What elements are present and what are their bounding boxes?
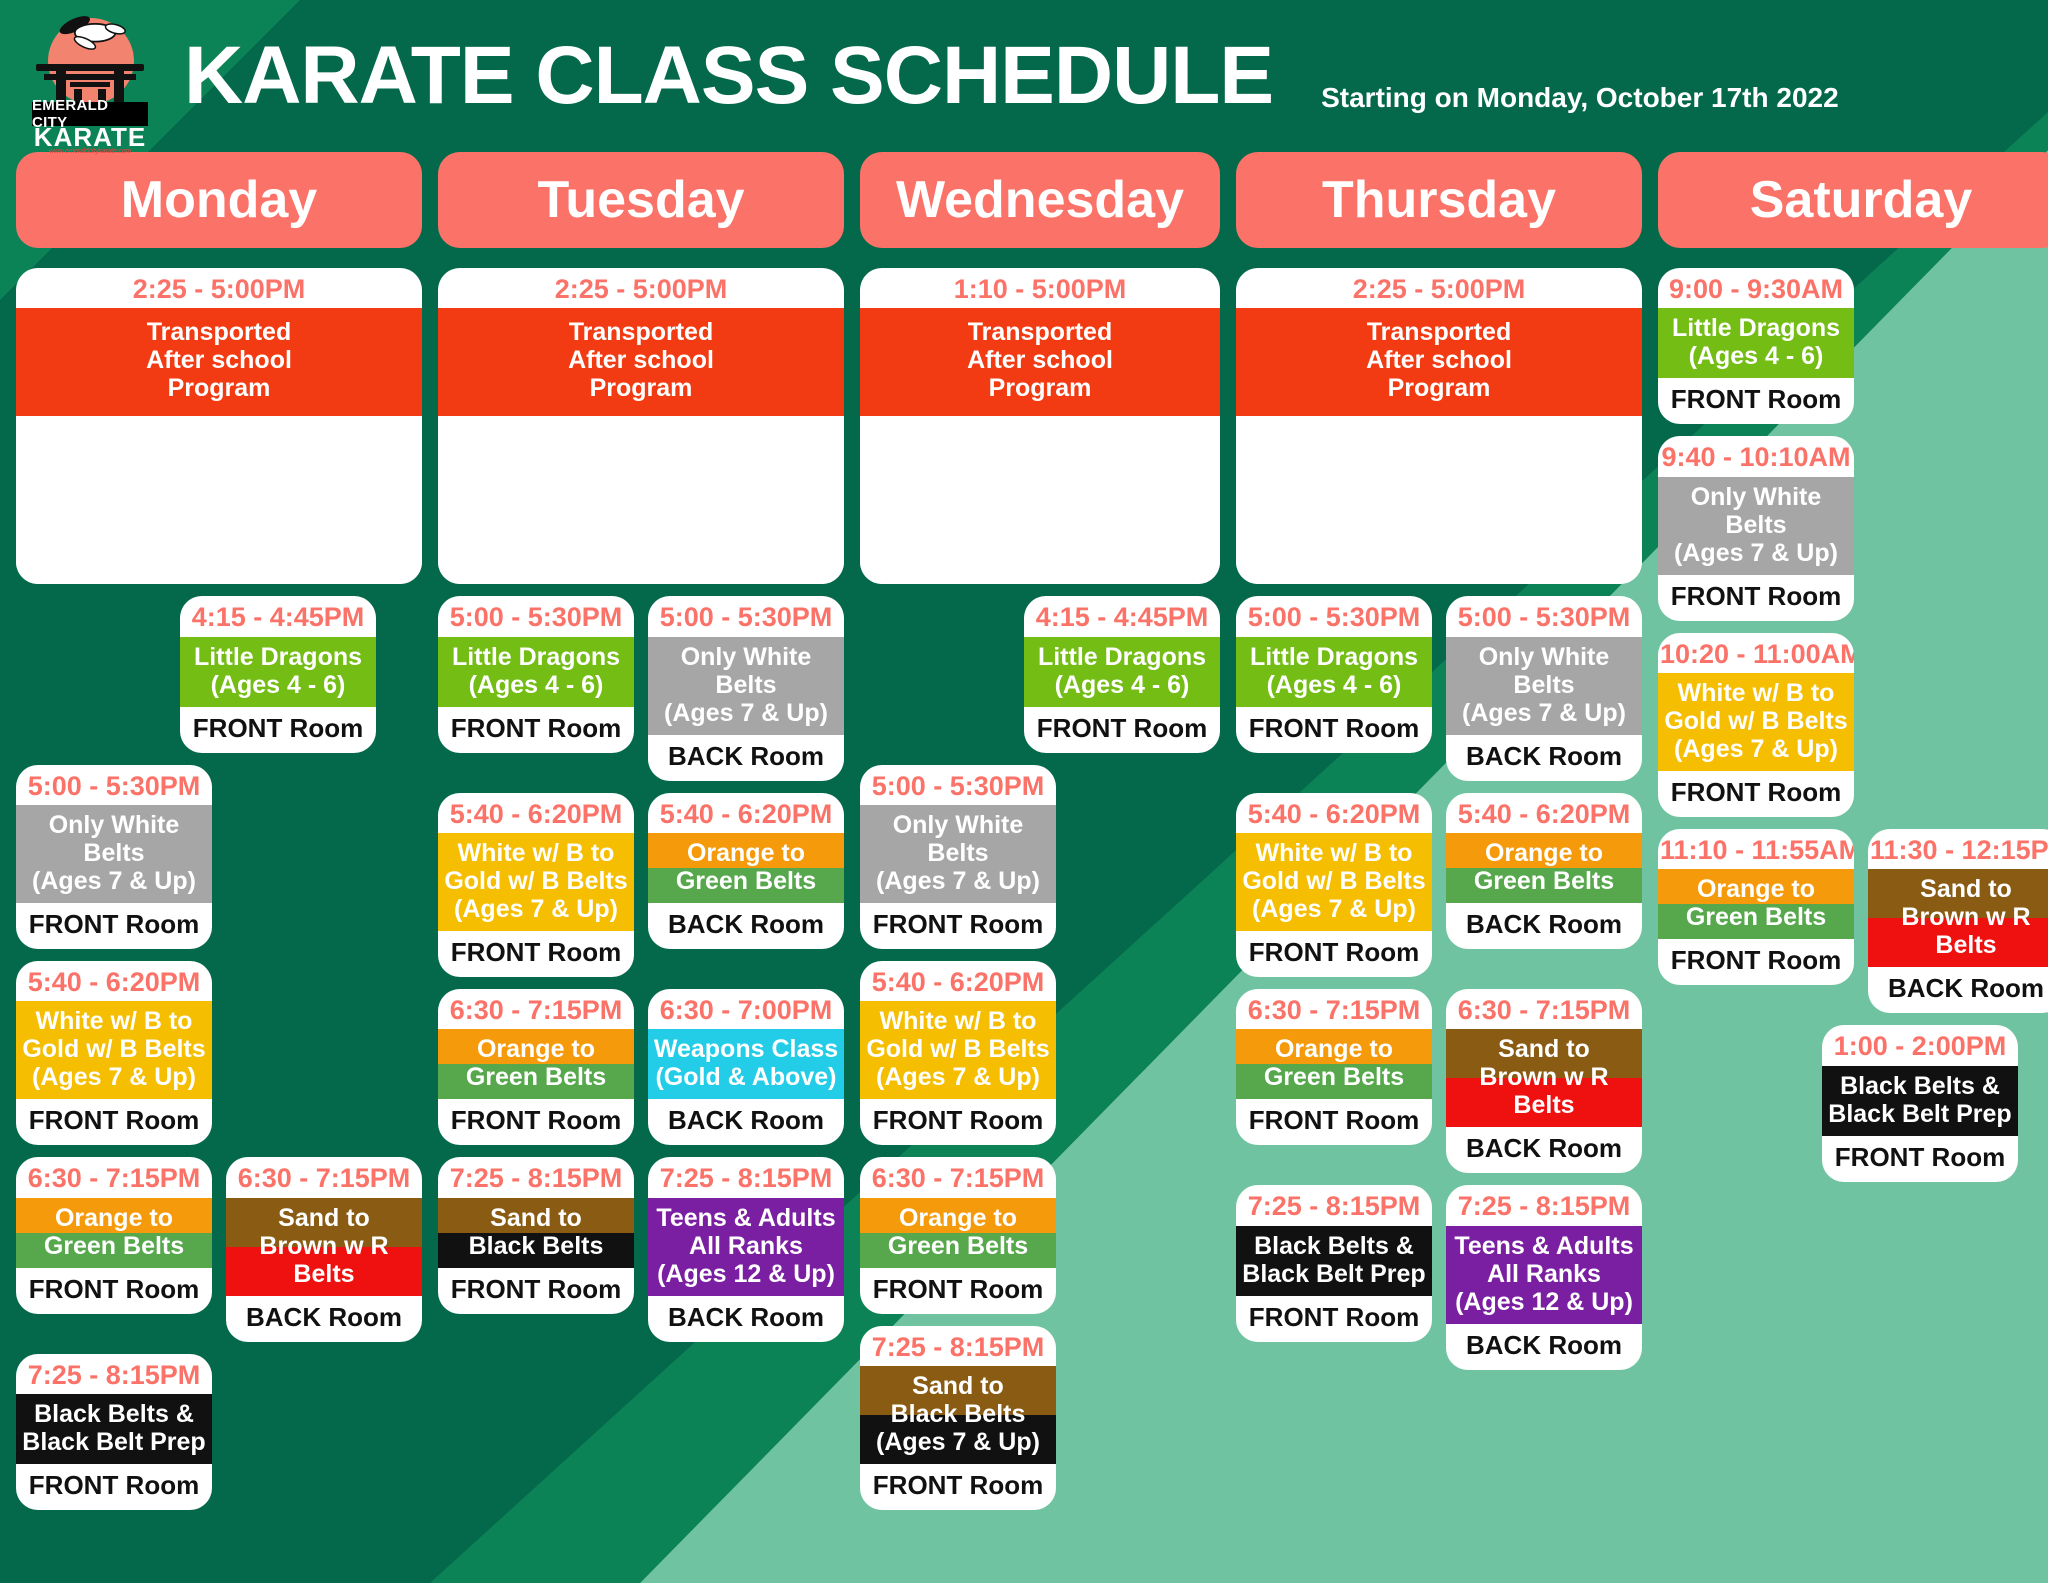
- schedule-row: 7:25 - 8:15PMBlack Belts &Black Belt Pre…: [1236, 1185, 1642, 1369]
- class-card-filler: [16, 416, 422, 584]
- class-room: FRONT Room: [1658, 378, 1854, 424]
- class-time: 6:30 - 7:15PM: [1236, 989, 1432, 1029]
- class-band: White w/ B toGold w/ B Belts(Ages 7 & Up…: [860, 1001, 1056, 1099]
- class-title: Only White Belts(Ages 7 & Up): [1658, 477, 1854, 575]
- class-room: FRONT Room: [1822, 1136, 2018, 1182]
- class-room: FRONT Room: [860, 1464, 1056, 1510]
- class-band: TransportedAfter schoolProgram: [860, 308, 1220, 416]
- class-band: TransportedAfter schoolProgram: [16, 308, 422, 416]
- class-card[interactable]: 9:00 - 9:30AMLittle Dragons(Ages 4 - 6)F…: [1658, 268, 1854, 424]
- schedule-row: 5:00 - 5:30PMLittle Dragons(Ages 4 - 6)F…: [1236, 596, 1642, 780]
- schedule-row: 7:25 - 8:15PMBlack Belts &Black Belt Pre…: [16, 1354, 422, 1510]
- class-title: White w/ B toGold w/ B Belts(Ages 7 & Up…: [16, 1001, 212, 1099]
- class-card[interactable]: 2:25 - 5:00PMTransportedAfter schoolProg…: [16, 268, 422, 584]
- class-title: TransportedAfter schoolProgram: [1236, 308, 1642, 416]
- class-band: Sand toBrown w R Belts: [1868, 869, 2048, 967]
- class-room: FRONT Room: [1236, 1099, 1432, 1145]
- day-column-monday: Monday2:25 - 5:00PMTransportedAfter scho…: [8, 152, 430, 1583]
- schedule-row: 4:15 - 4:45PMLittle Dragons(Ages 4 - 6)F…: [860, 596, 1220, 752]
- class-room: BACK Room: [1446, 735, 1642, 781]
- class-band: Only White Belts(Ages 7 & Up): [16, 805, 212, 903]
- class-room: FRONT Room: [438, 707, 634, 753]
- class-card[interactable]: 11:30 - 12:15PMSand toBrown w R BeltsBAC…: [1868, 829, 2048, 1013]
- class-card-filler: [438, 416, 844, 584]
- class-title: Orange toGreen Belts: [1446, 833, 1642, 903]
- class-title: Only White Belts(Ages 7 & Up): [860, 805, 1056, 903]
- class-card[interactable]: 6:30 - 7:15PMOrange toGreen BeltsFRONT R…: [16, 1157, 212, 1313]
- class-title: Only White Belts(Ages 7 & Up): [648, 637, 844, 735]
- class-band: Orange toGreen Belts: [648, 833, 844, 903]
- schedule-row: 2:25 - 5:00PMTransportedAfter schoolProg…: [16, 268, 422, 584]
- day-header-thursday[interactable]: Thursday: [1236, 152, 1642, 248]
- class-time: 5:40 - 6:20PM: [16, 961, 212, 1001]
- class-card[interactable]: 10:20 - 11:00AMWhite w/ B toGold w/ B Be…: [1658, 633, 1854, 817]
- class-room: FRONT Room: [180, 707, 376, 753]
- class-time: 10:20 - 11:00AM: [1658, 633, 1854, 673]
- class-time: 6:30 - 7:00PM: [648, 989, 844, 1029]
- class-room: BACK Room: [648, 1296, 844, 1342]
- schedule-row: 5:40 - 6:20PMWhite w/ B toGold w/ B Belt…: [860, 961, 1220, 1145]
- class-band: Little Dragons(Ages 4 - 6): [180, 637, 376, 707]
- class-title: Sand toBlack Belts(Ages 7 & Up): [860, 1366, 1056, 1464]
- class-title: Only White Belts(Ages 7 & Up): [16, 805, 212, 903]
- class-card[interactable]: 5:00 - 5:30PMOnly White Belts(Ages 7 & U…: [1446, 596, 1642, 780]
- day-header-tuesday[interactable]: Tuesday: [438, 152, 844, 248]
- class-title: Sand toBrown w R Belts: [1446, 1029, 1642, 1127]
- class-title: Black Belts &Black Belt Prep: [1236, 1226, 1432, 1296]
- class-time: 6:30 - 7:15PM: [860, 1157, 1056, 1197]
- class-band: TransportedAfter schoolProgram: [1236, 308, 1642, 416]
- class-time: 5:40 - 6:20PM: [438, 793, 634, 833]
- day-card-list: 2:25 - 5:00PMTransportedAfter schoolProg…: [438, 268, 844, 1342]
- class-title: Teens & AdultsAll Ranks(Ages 12 & Up): [648, 1198, 844, 1296]
- class-room: FRONT Room: [860, 1268, 1056, 1314]
- class-card[interactable]: 5:00 - 5:30PMOnly White Belts(Ages 7 & U…: [860, 765, 1056, 949]
- class-card[interactable]: 5:40 - 6:20PMOrange toGreen BeltsBACK Ro…: [1446, 793, 1642, 949]
- class-card[interactable]: 7:25 - 8:15PMBlack Belts &Black Belt Pre…: [16, 1354, 212, 1510]
- class-card-filler: [1236, 416, 1642, 584]
- schedule-grid: Monday2:25 - 5:00PMTransportedAfter scho…: [0, 152, 2048, 1583]
- schedule-row: 5:00 - 5:30PMLittle Dragons(Ages 4 - 6)F…: [438, 596, 844, 780]
- class-title: Teens & AdultsAll Ranks(Ages 12 & Up): [1446, 1226, 1642, 1324]
- class-card[interactable]: 6:30 - 7:15PMSand toBrown w R BeltsBACK …: [226, 1157, 422, 1341]
- class-room: FRONT Room: [860, 1099, 1056, 1145]
- schedule-row: 2:25 - 5:00PMTransportedAfter schoolProg…: [438, 268, 844, 584]
- schedule-row: 5:40 - 6:20PMWhite w/ B toGold w/ B Belt…: [16, 961, 422, 1145]
- class-title: Little Dragons(Ages 4 - 6): [438, 637, 634, 707]
- class-band: White w/ B toGold w/ B Belts(Ages 7 & Up…: [1236, 833, 1432, 931]
- class-room: FRONT Room: [860, 903, 1056, 949]
- schedule-row: 5:00 - 5:30PMOnly White Belts(Ages 7 & U…: [860, 765, 1220, 949]
- class-time: 7:25 - 8:15PM: [1446, 1185, 1642, 1225]
- class-room: FRONT Room: [1236, 1296, 1432, 1342]
- class-card[interactable]: 2:25 - 5:00PMTransportedAfter schoolProg…: [438, 268, 844, 584]
- class-time: 6:30 - 7:15PM: [438, 989, 634, 1029]
- class-time: 5:40 - 6:20PM: [860, 961, 1056, 1001]
- class-time: 4:15 - 4:45PM: [180, 596, 376, 636]
- class-room: BACK Room: [648, 903, 844, 949]
- class-band: Orange toGreen Belts: [438, 1029, 634, 1099]
- class-room: FRONT Room: [16, 1464, 212, 1510]
- class-room: FRONT Room: [1658, 575, 1854, 621]
- schedule-row: 6:30 - 7:15PMOrange toGreen BeltsFRONT R…: [860, 1157, 1220, 1313]
- class-room: BACK Room: [226, 1296, 422, 1342]
- schedule-row: 4:15 - 4:45PMLittle Dragons(Ages 4 - 6)F…: [16, 596, 422, 752]
- schedule-row: 6:30 - 7:15PMOrange toGreen BeltsFRONT R…: [438, 989, 844, 1145]
- class-time: 11:10 - 11:55AM: [1658, 829, 1854, 869]
- class-card[interactable]: 7:25 - 8:15PMTeens & AdultsAll Ranks(Age…: [1446, 1185, 1642, 1369]
- class-time: 2:25 - 5:00PM: [438, 268, 844, 308]
- day-header-monday[interactable]: Monday: [16, 152, 422, 248]
- class-card[interactable]: 5:00 - 5:30PMLittle Dragons(Ages 4 - 6)F…: [438, 596, 634, 752]
- class-room: FRONT Room: [16, 1099, 212, 1145]
- class-time: 2:25 - 5:00PM: [16, 268, 422, 308]
- day-card-list: 2:25 - 5:00PMTransportedAfter schoolProg…: [1236, 268, 1642, 1370]
- class-band: Little Dragons(Ages 4 - 6): [1024, 637, 1220, 707]
- class-room: BACK Room: [1868, 967, 2048, 1013]
- class-card[interactable]: 7:25 - 8:15PMBlack Belts &Black Belt Pre…: [1236, 1185, 1432, 1341]
- schedule-row: 5:00 - 5:30PMOnly White Belts(Ages 7 & U…: [16, 765, 422, 949]
- class-time: 5:40 - 6:20PM: [1446, 793, 1642, 833]
- class-card[interactable]: 6:30 - 7:15PMSand toBrown w R BeltsBACK …: [1446, 989, 1642, 1173]
- brand-logo: EMERALD CITY KARATE www.emeraldcitykarat…: [26, 10, 154, 142]
- class-band: White w/ B toGold w/ B Belts(Ages 7 & Up…: [438, 833, 634, 931]
- class-band: Black Belts &Black Belt Prep: [1822, 1066, 2018, 1136]
- class-card[interactable]: 1:00 - 2:00PMBlack Belts &Black Belt Pre…: [1822, 1025, 2018, 1181]
- class-title: Orange toGreen Belts: [1236, 1029, 1432, 1099]
- class-title: Little Dragons(Ages 4 - 6): [1658, 308, 1854, 378]
- class-band: White w/ B toGold w/ B Belts(Ages 7 & Up…: [1658, 673, 1854, 771]
- class-card[interactable]: 11:10 - 11:55AMOrange toGreen BeltsFRONT…: [1658, 829, 1854, 985]
- class-title: Little Dragons(Ages 4 - 6): [1024, 637, 1220, 707]
- class-room: FRONT Room: [438, 931, 634, 977]
- class-band: Only White Belts(Ages 7 & Up): [1658, 477, 1854, 575]
- class-time: 7:25 - 8:15PM: [16, 1354, 212, 1394]
- page-subtitle: Starting on Monday, October 17th 2022: [1321, 82, 1839, 114]
- class-title: Black Belts &Black Belt Prep: [1822, 1066, 2018, 1136]
- day-card-list: 2:25 - 5:00PMTransportedAfter schoolProg…: [16, 268, 422, 1510]
- class-time: 6:30 - 7:15PM: [16, 1157, 212, 1197]
- class-room: BACK Room: [648, 735, 844, 781]
- class-time: 5:40 - 6:20PM: [1236, 793, 1432, 833]
- logo-website-url: www.emeraldcitykarate.com: [32, 148, 148, 155]
- class-card[interactable]: 5:00 - 5:30PMOnly White Belts(Ages 7 & U…: [16, 765, 212, 949]
- class-band: Orange toGreen Belts: [1446, 833, 1642, 903]
- class-title: Orange toGreen Belts: [648, 833, 844, 903]
- class-title: TransportedAfter schoolProgram: [438, 308, 844, 416]
- schedule-row: 5:40 - 6:20PMWhite w/ B toGold w/ B Belt…: [1236, 793, 1642, 977]
- class-band: Teens & AdultsAll Ranks(Ages 12 & Up): [648, 1198, 844, 1296]
- schedule-row: 5:40 - 6:20PMWhite w/ B toGold w/ B Belt…: [438, 793, 844, 977]
- class-band: Sand toBrown w R Belts: [226, 1198, 422, 1296]
- class-title: White w/ B toGold w/ B Belts(Ages 7 & Up…: [1658, 673, 1854, 771]
- schedule-row: 1:00 - 2:00PMBlack Belts &Black Belt Pre…: [1658, 1025, 2048, 1181]
- class-title: Weapons Class(Gold & Above): [648, 1029, 844, 1099]
- class-band: Only White Belts(Ages 7 & Up): [860, 805, 1056, 903]
- schedule-row: 11:10 - 11:55AMOrange toGreen BeltsFRONT…: [1658, 829, 2048, 1013]
- class-card[interactable]: 5:40 - 6:20PMWhite w/ B toGold w/ B Belt…: [16, 961, 212, 1145]
- class-card[interactable]: 4:15 - 4:45PMLittle Dragons(Ages 4 - 6)F…: [1024, 596, 1220, 752]
- class-time: 7:25 - 8:15PM: [860, 1326, 1056, 1366]
- schedule-row: 9:40 - 10:10AMOnly White Belts(Ages 7 & …: [1658, 436, 2048, 620]
- class-band: Black Belts &Black Belt Prep: [16, 1394, 212, 1464]
- day-header-saturday[interactable]: Saturday: [1658, 152, 2048, 248]
- class-room: FRONT Room: [438, 1099, 634, 1145]
- class-time: 5:00 - 5:30PM: [1236, 596, 1432, 636]
- class-time: 7:25 - 8:15PM: [648, 1157, 844, 1197]
- class-band: Little Dragons(Ages 4 - 6): [438, 637, 634, 707]
- class-band: Little Dragons(Ages 4 - 6): [1236, 637, 1432, 707]
- class-time: 5:00 - 5:30PM: [16, 765, 212, 805]
- class-band: Orange toGreen Belts: [1236, 1029, 1432, 1099]
- class-title: Little Dragons(Ages 4 - 6): [180, 637, 376, 707]
- class-band: Only White Belts(Ages 7 & Up): [1446, 637, 1642, 735]
- karate-fighter-icon: [52, 14, 128, 54]
- class-time: 11:30 - 12:15PM: [1868, 829, 2048, 869]
- day-header-wednesday[interactable]: Wednesday: [860, 152, 1220, 248]
- page-header: EMERALD CITY KARATE www.emeraldcitykarat…: [0, 0, 2048, 152]
- schedule-row: 6:30 - 7:15PMOrange toGreen BeltsFRONT R…: [16, 1157, 422, 1341]
- class-title: Sand toBrown w R Belts: [226, 1198, 422, 1296]
- class-time: 1:00 - 2:00PM: [1822, 1025, 2018, 1065]
- class-band: Sand toBlack Belts(Ages 7 & Up): [860, 1366, 1056, 1464]
- class-band: Orange toGreen Belts: [16, 1198, 212, 1268]
- day-column-tuesday: Tuesday2:25 - 5:00PMTransportedAfter sch…: [430, 152, 852, 1583]
- schedule-row: 7:25 - 8:15PMSand toBlack BeltsFRONT Roo…: [438, 1157, 844, 1341]
- class-band: Weapons Class(Gold & Above): [648, 1029, 844, 1099]
- class-card[interactable]: 5:40 - 6:20PMWhite w/ B toGold w/ B Belt…: [860, 961, 1056, 1145]
- schedule-row: 10:20 - 11:00AMWhite w/ B toGold w/ B Be…: [1658, 633, 2048, 817]
- day-column-wednesday: Wednesday1:10 - 5:00PMTransportedAfter s…: [852, 152, 1228, 1583]
- class-card[interactable]: 9:40 - 10:10AMOnly White Belts(Ages 7 & …: [1658, 436, 1854, 620]
- class-title: White w/ B toGold w/ B Belts(Ages 7 & Up…: [438, 833, 634, 931]
- class-room: FRONT Room: [1658, 939, 1854, 985]
- class-card[interactable]: 5:00 - 5:30PMOnly White Belts(Ages 7 & U…: [648, 596, 844, 780]
- day-column-saturday: Saturday9:00 - 9:30AMLittle Dragons(Ages…: [1650, 152, 2048, 1583]
- logo-karate-text: KARATE: [32, 124, 148, 150]
- page-title: KARATE CLASS SCHEDULE: [184, 29, 1273, 123]
- class-room: FRONT Room: [1658, 771, 1854, 817]
- class-band: Sand toBrown w R Belts: [1446, 1029, 1642, 1127]
- class-room: FRONT Room: [438, 1268, 634, 1314]
- class-time: 5:00 - 5:30PM: [438, 596, 634, 636]
- class-card[interactable]: 2:25 - 5:00PMTransportedAfter schoolProg…: [1236, 268, 1642, 584]
- schedule-row: 6:30 - 7:15PMOrange toGreen BeltsFRONT R…: [1236, 989, 1642, 1173]
- class-room: BACK Room: [1446, 1127, 1642, 1173]
- schedule-row: 2:25 - 5:00PMTransportedAfter schoolProg…: [1236, 268, 1642, 584]
- class-time: 9:40 - 10:10AM: [1658, 436, 1854, 476]
- class-title: TransportedAfter schoolProgram: [16, 308, 422, 416]
- class-title: Sand toBlack Belts: [438, 1198, 634, 1268]
- class-time: 7:25 - 8:15PM: [1236, 1185, 1432, 1225]
- class-room: FRONT Room: [16, 903, 212, 949]
- schedule-row: 7:25 - 8:15PMSand toBlack Belts(Ages 7 &…: [860, 1326, 1220, 1510]
- class-title: Orange toGreen Belts: [860, 1198, 1056, 1268]
- class-room: FRONT Room: [1024, 707, 1220, 753]
- class-band: Orange toGreen Belts: [1658, 869, 1854, 939]
- class-title: TransportedAfter schoolProgram: [860, 308, 1220, 416]
- class-time: 7:25 - 8:15PM: [438, 1157, 634, 1197]
- class-time: 5:00 - 5:30PM: [1446, 596, 1642, 636]
- class-title: Little Dragons(Ages 4 - 6): [1236, 637, 1432, 707]
- class-title: White w/ B toGold w/ B Belts(Ages 7 & Up…: [860, 1001, 1056, 1099]
- class-card[interactable]: 7:25 - 8:15PMTeens & AdultsAll Ranks(Age…: [648, 1157, 844, 1341]
- class-card[interactable]: 7:25 - 8:15PMSand toBlack BeltsFRONT Roo…: [438, 1157, 634, 1313]
- class-time: 4:15 - 4:45PM: [1024, 596, 1220, 636]
- class-band: TransportedAfter schoolProgram: [438, 308, 844, 416]
- class-time: 9:00 - 9:30AM: [1658, 268, 1854, 308]
- day-column-thursday: Thursday2:25 - 5:00PMTransportedAfter sc…: [1228, 152, 1650, 1583]
- class-card[interactable]: 5:00 - 5:30PMLittle Dragons(Ages 4 - 6)F…: [1236, 596, 1432, 752]
- class-time: 5:40 - 6:20PM: [648, 793, 844, 833]
- class-title: Black Belts &Black Belt Prep: [16, 1394, 212, 1464]
- class-time: 6:30 - 7:15PM: [226, 1157, 422, 1197]
- class-card[interactable]: 5:40 - 6:20PMWhite w/ B toGold w/ B Belt…: [438, 793, 634, 977]
- class-time: 2:25 - 5:00PM: [1236, 268, 1642, 308]
- class-band: White w/ B toGold w/ B Belts(Ages 7 & Up…: [16, 1001, 212, 1099]
- class-band: Orange toGreen Belts: [860, 1198, 1056, 1268]
- class-band: Only White Belts(Ages 7 & Up): [648, 637, 844, 735]
- class-band: Sand toBlack Belts: [438, 1198, 634, 1268]
- class-title: White w/ B toGold w/ B Belts(Ages 7 & Up…: [1236, 833, 1432, 931]
- schedule-row: 9:00 - 9:30AMLittle Dragons(Ages 4 - 6)F…: [1658, 268, 2048, 424]
- class-card[interactable]: 6:30 - 7:15PMOrange toGreen BeltsFRONT R…: [438, 989, 634, 1145]
- class-time: 1:10 - 5:00PM: [860, 268, 1220, 308]
- day-card-list: 1:10 - 5:00PMTransportedAfter schoolProg…: [860, 268, 1220, 1510]
- class-card-filler: [860, 416, 1220, 584]
- class-title: Sand toBrown w R Belts: [1868, 869, 2048, 967]
- class-time: 5:00 - 5:30PM: [648, 596, 844, 636]
- class-room: BACK Room: [1446, 903, 1642, 949]
- day-card-list: 9:00 - 9:30AMLittle Dragons(Ages 4 - 6)F…: [1658, 268, 2048, 1182]
- class-room: BACK Room: [648, 1099, 844, 1145]
- class-time: 5:00 - 5:30PM: [860, 765, 1056, 805]
- class-card[interactable]: 6:30 - 7:15PMOrange toGreen BeltsFRONT R…: [1236, 989, 1432, 1145]
- class-card[interactable]: 5:40 - 6:20PMWhite w/ B toGold w/ B Belt…: [1236, 793, 1432, 977]
- class-room: FRONT Room: [16, 1268, 212, 1314]
- class-title: Orange toGreen Belts: [438, 1029, 634, 1099]
- class-room: FRONT Room: [1236, 707, 1432, 753]
- class-title: Orange toGreen Belts: [16, 1198, 212, 1268]
- class-band: Teens & AdultsAll Ranks(Ages 12 & Up): [1446, 1226, 1642, 1324]
- class-band: Black Belts &Black Belt Prep: [1236, 1226, 1432, 1296]
- class-card[interactable]: 6:30 - 7:00PMWeapons Class(Gold & Above)…: [648, 989, 844, 1145]
- class-room: BACK Room: [1446, 1324, 1642, 1370]
- class-time: 6:30 - 7:15PM: [1446, 989, 1642, 1029]
- class-title: Orange toGreen Belts: [1658, 869, 1854, 939]
- schedule-row: 1:10 - 5:00PMTransportedAfter schoolProg…: [860, 268, 1220, 584]
- class-card[interactable]: 7:25 - 8:15PMSand toBlack Belts(Ages 7 &…: [860, 1326, 1056, 1510]
- class-card[interactable]: 1:10 - 5:00PMTransportedAfter schoolProg…: [860, 268, 1220, 584]
- class-card[interactable]: 6:30 - 7:15PMOrange toGreen BeltsFRONT R…: [860, 1157, 1056, 1313]
- class-band: Little Dragons(Ages 4 - 6): [1658, 308, 1854, 378]
- class-title: Only White Belts(Ages 7 & Up): [1446, 637, 1642, 735]
- class-card[interactable]: 5:40 - 6:20PMOrange toGreen BeltsBACK Ro…: [648, 793, 844, 949]
- class-room: FRONT Room: [1236, 931, 1432, 977]
- class-card[interactable]: 4:15 - 4:45PMLittle Dragons(Ages 4 - 6)F…: [180, 596, 376, 752]
